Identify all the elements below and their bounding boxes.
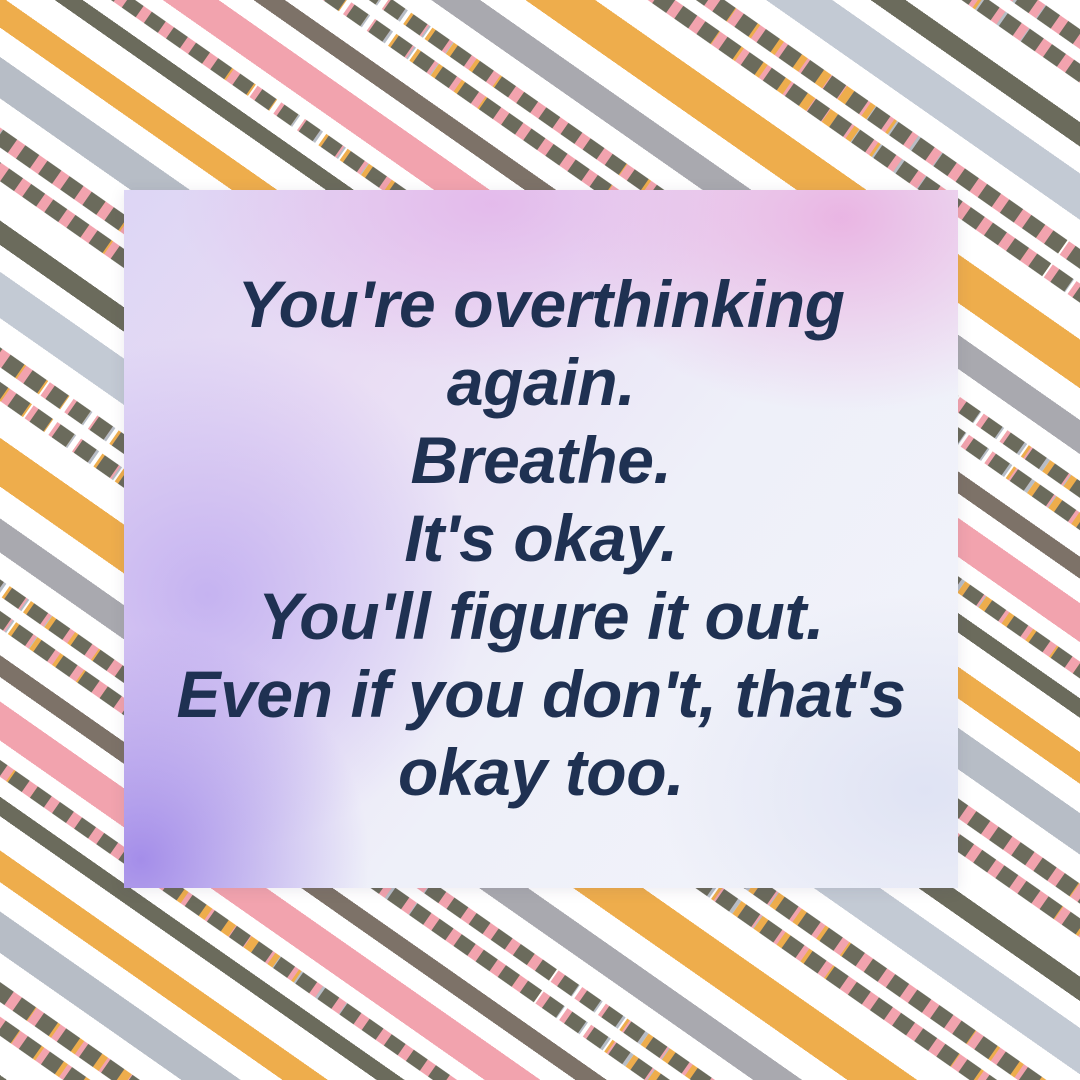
quote-line: again. xyxy=(142,344,940,422)
quote-line: Even if you don't, that's xyxy=(142,656,940,734)
poster-canvas: You're overthinking again. Breathe. It's… xyxy=(0,0,1080,1080)
quote-line: You'll figure it out. xyxy=(142,578,940,656)
quote-line: okay too. xyxy=(142,734,940,812)
quote-line: Breathe. xyxy=(142,422,940,500)
quote-text-block: You're overthinking again. Breathe. It's… xyxy=(124,266,958,811)
quote-line: You're overthinking xyxy=(142,266,940,344)
quote-line: It's okay. xyxy=(142,500,940,578)
quote-card: You're overthinking again. Breathe. It's… xyxy=(124,190,958,888)
